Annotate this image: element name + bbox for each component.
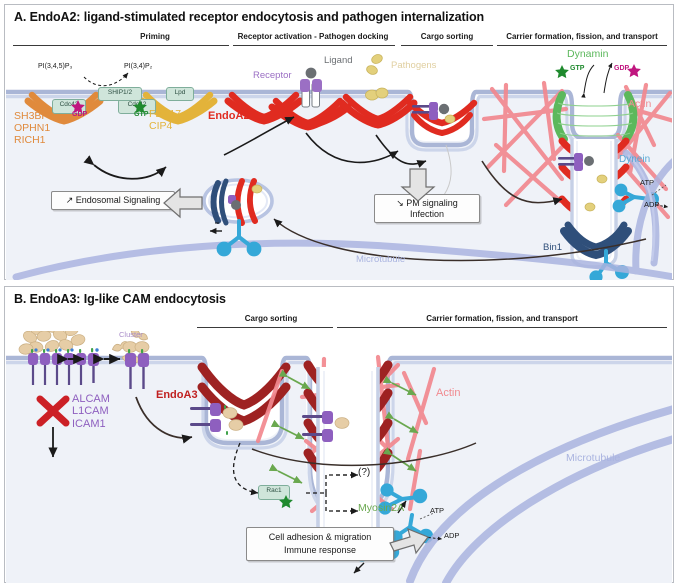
section-label-receptor-activation: Receptor activation - Pathogen docking — [233, 32, 393, 41]
block-arrows-b — [6, 331, 672, 583]
block-arrow-left-icon — [164, 189, 202, 217]
panel-b-title: B. EndoA3: Ig-like CAM endocytosis — [14, 292, 226, 306]
section-rule-b-carrier — [337, 327, 667, 328]
section-rule-receptor-activation — [233, 45, 395, 46]
block-arrows-a — [6, 49, 672, 280]
section-label-cargo-sorting: Cargo sorting — [401, 32, 493, 41]
block-arrow-down-icon — [402, 169, 434, 201]
panel-a: A. EndoA2: ligand-stimulated receptor en… — [4, 4, 674, 280]
section-rule-priming — [13, 45, 229, 46]
section-label-b-carrier: Carrier formation, fission, and transpor… — [339, 314, 665, 323]
panel-a-stage: PI(3,4,5)P₃ PI(3,4)P₂ SH3BP1 OPHN1 RICH1… — [6, 49, 672, 280]
panel-a-title: A. EndoA2: ligand-stimulated receptor en… — [14, 10, 484, 24]
section-label-b-cargo-sorting: Cargo sorting — [201, 314, 341, 323]
section-label-carrier-formation: Carrier formation, fission, and transpor… — [497, 32, 667, 41]
panel-b: B. EndoA3: Ig-like CAM endocytosis Cargo… — [4, 286, 674, 583]
figure-root: A. EndoA2: ligand-stimulated receptor en… — [0, 0, 678, 587]
section-rule-b-cargo — [197, 327, 333, 328]
section-rule-cargo-sorting — [401, 45, 493, 46]
panel-b-stage: Galectins Lattice Cluster ALCAM L1CAM IC… — [6, 331, 672, 583]
section-rule-carrier-formation — [497, 45, 667, 46]
block-arrow-upright-icon — [390, 529, 428, 553]
section-label-priming: Priming — [65, 32, 245, 41]
